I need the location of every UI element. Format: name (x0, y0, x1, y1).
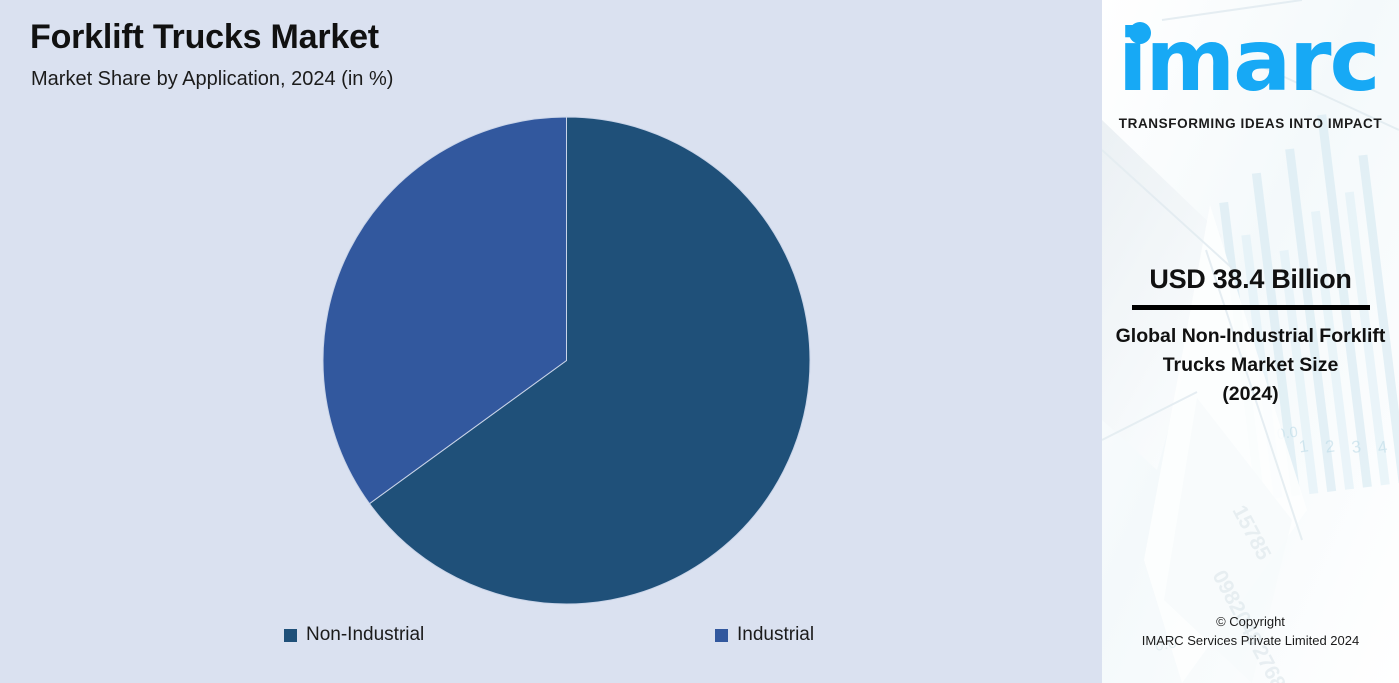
stat-caption: Global Non-Industrial Forklift Trucks Ma… (1102, 322, 1399, 380)
stat-block: USD 38.4 Billion Global Non-Industrial F… (1102, 262, 1399, 409)
pie-chart (322, 116, 811, 605)
page-title: Forklift Trucks Market (30, 18, 379, 57)
legend-item-industrial[interactable]: Industrial (715, 624, 814, 646)
chart-legend: Non-Industrial Industrial (0, 620, 1102, 660)
legend-label: Industrial (737, 624, 814, 646)
legend-swatch-icon (715, 629, 728, 642)
infographic-root: Forklift Trucks Market Market Share by A… (0, 0, 1399, 683)
brand-panel: 1 2 3 4 0.0 (1102, 0, 1399, 683)
logo-tagline: TRANSFORMING IDEAS INTO IMPACT (1102, 116, 1399, 131)
copyright-block: © Copyright IMARC Services Private Limit… (1102, 612, 1399, 650)
imarc-logo: imarc TRANSFORMING IDEAS INTO IMPACT (1102, 8, 1399, 128)
stat-value: USD 38.4 Billion (1102, 262, 1399, 296)
chart-subtitle: Market Share by Application, 2024 (in %) (31, 68, 393, 91)
pie-chart-svg (322, 116, 811, 605)
chart-panel: Forklift Trucks Market Market Share by A… (0, 0, 1102, 683)
legend-label: Non-Industrial (306, 624, 424, 646)
stat-caption-year: (2024) (1102, 380, 1399, 409)
legend-item-non-industrial[interactable]: Non-Industrial (284, 624, 424, 646)
stat-divider (1132, 305, 1370, 310)
logo-wordmark: imarc (1118, 18, 1379, 104)
copyright-line-1: © Copyright (1102, 612, 1399, 631)
copyright-line-2: IMARC Services Private Limited 2024 (1102, 631, 1399, 650)
legend-swatch-icon (284, 629, 297, 642)
logo-dot-icon (1129, 22, 1151, 44)
